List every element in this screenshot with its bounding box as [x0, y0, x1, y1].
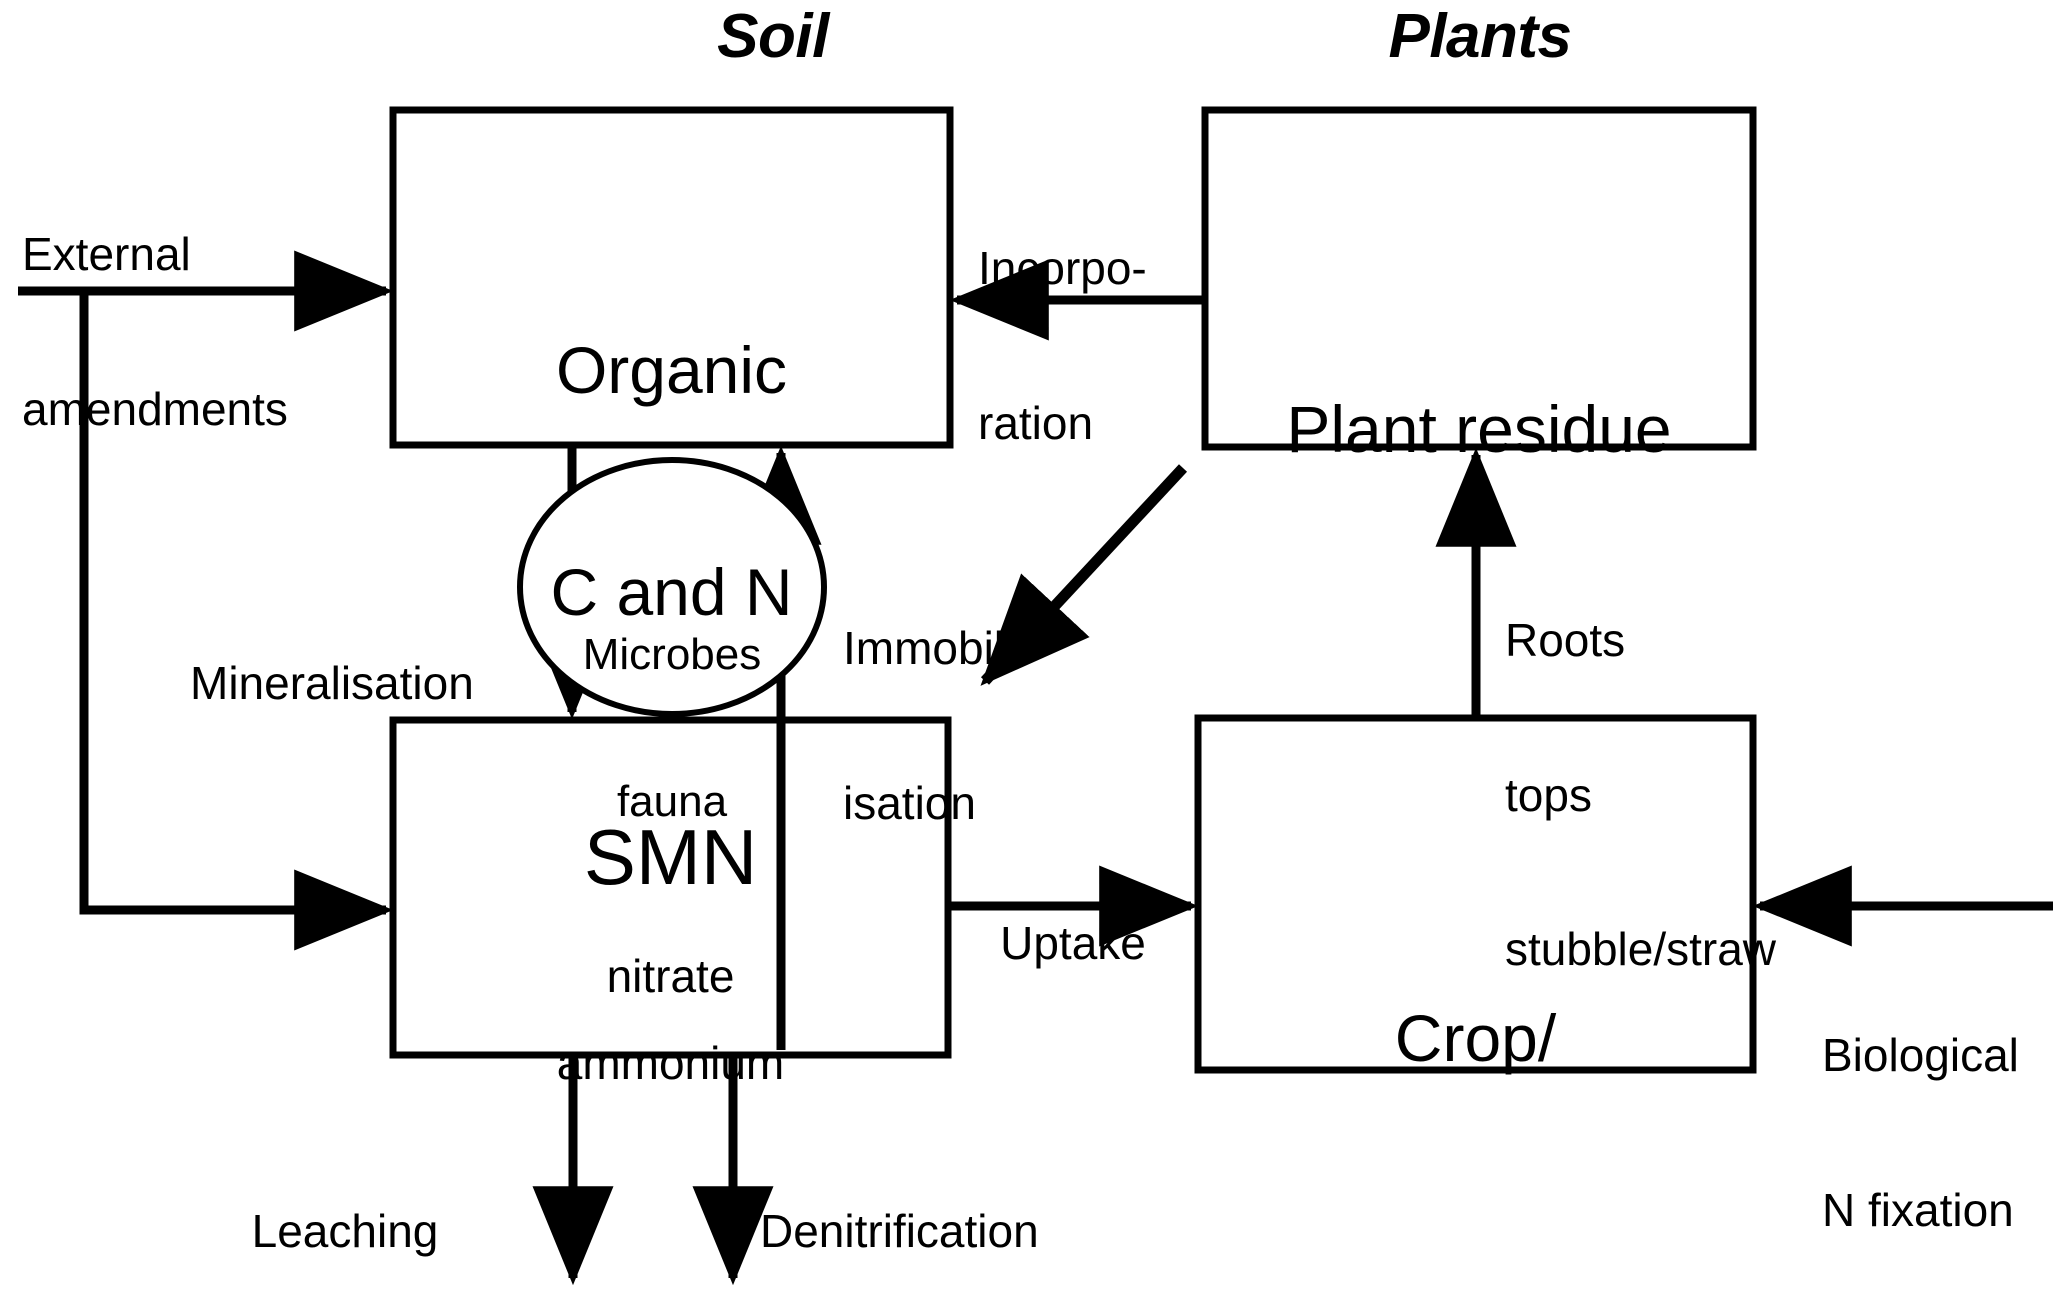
label-roots-tops-stubble: Roots tops stubble/straw [1505, 512, 1776, 1079]
box-crop-label-line2: cover crop [1198, 1278, 1753, 1297]
box-smn-line2: ammonium [393, 1038, 948, 1090]
box-plant-residue-label-line1: Plant residue [1205, 393, 1753, 467]
label-biological-n-fixation: Biological N fixation [1822, 927, 2019, 1297]
box-organic-label-line1: Organic [393, 334, 950, 408]
section-title-plants: Plants [1290, 2, 1670, 71]
label-denitrification-line1: Denitrification [760, 1206, 1239, 1258]
label-roots-tops-stubble-line1: Roots [1505, 615, 1776, 667]
label-biological-n-fixation-line1: Biological [1822, 1030, 2019, 1082]
diagram-canvas: Soil Plants Organic C and N Plant residu… [0, 0, 2067, 1297]
label-incorporation: Incorpo- ration [978, 140, 1147, 552]
label-external-amendments-line1: External [22, 229, 288, 281]
label-roots-tops-stubble-line2: tops [1505, 770, 1776, 822]
section-title-soil: Soil [603, 2, 943, 71]
label-mineralisation-line1: Mineralisation [190, 658, 474, 710]
ellipse-label-line1: Microbes [520, 630, 824, 679]
label-denitrification: Denitrification N2O – hot moments [760, 1103, 1239, 1297]
label-incorporation-line1: Incorpo- [978, 243, 1147, 295]
label-biological-n-fixation-line2: N fixation [1822, 1185, 2019, 1237]
label-immobilisation-line1: Immobil- [843, 623, 1019, 675]
box-smn-line1: nitrate [393, 951, 948, 1003]
label-uptake: Uptake [948, 815, 1198, 1073]
label-mineralisation: Mineralisation [190, 555, 474, 813]
label-incorporation-line2: ration [978, 398, 1147, 450]
label-uptake-line1: Uptake [948, 918, 1198, 970]
label-leaching-line1: Leaching [150, 1206, 540, 1258]
ellipse-microbes-fauna-label: Microbes fauna [520, 531, 824, 925]
label-leaching: Leaching NO3 – bare soil [150, 1103, 540, 1297]
ellipse-label-line2: fauna [520, 777, 824, 826]
label-external-amendments-line2: amendments [22, 384, 288, 436]
label-external-amendments: External amendments [22, 126, 288, 538]
label-roots-tops-stubble-line3: stubble/straw [1505, 924, 1776, 976]
